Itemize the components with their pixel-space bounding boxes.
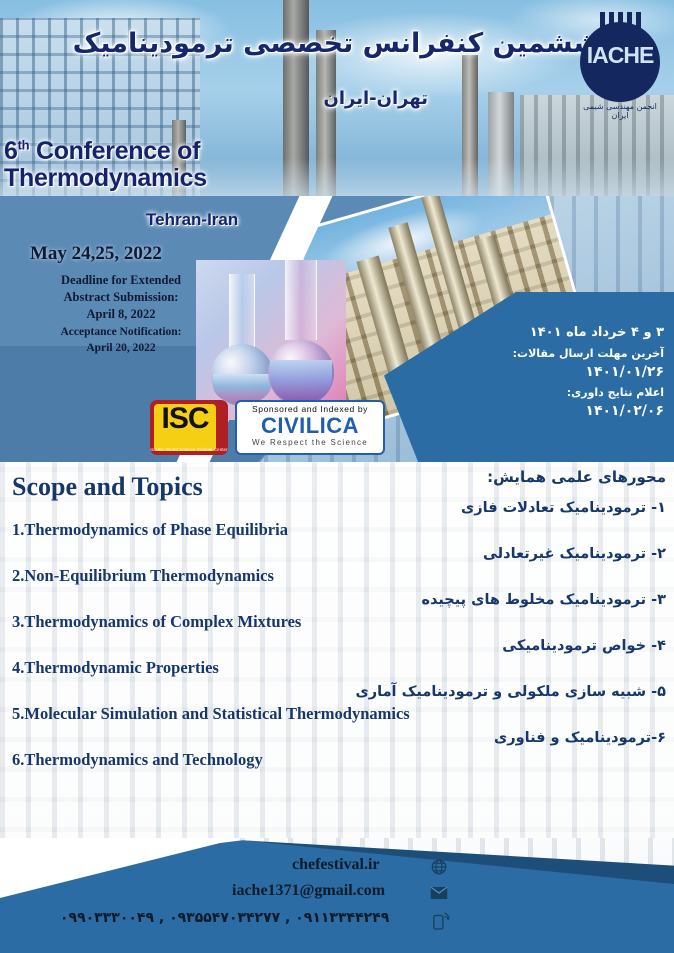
persian-topic-item: ۲- ترمودینامیک غیرتعادلی [246,546,666,562]
acceptance-date: April 20, 2022 [26,341,216,357]
persian-notify-value: ۱۴۰۱/۰۲/۰۶ [513,401,664,421]
persian-topic-item: ۶-ترمودینامیک و فناوری [246,730,666,746]
isc-logo-letters: ISC [154,402,216,436]
conference-poster: ششمین کنفرانس تخصصی ترمودینامیک تهران-ای… [0,0,674,953]
deadline-date: April 8, 2022 [26,306,216,323]
civilica-logo[interactable]: Sponsored and Indexed by CIVILICA We Res… [235,400,385,455]
persian-conference-title: ششمین کنفرانس تخصصی ترمودینامیک [73,28,600,59]
acceptance-label: Acceptance Notification: [26,325,216,341]
flask-neck [285,260,317,340]
logo-persian-caption: انجمن مهندسی شیمی ایران [574,102,666,120]
flask-right [268,260,334,406]
persian-notify-label: اعلام نتایج داوری: [513,385,664,401]
persian-topics-list: ۱- ترمودینامیک تعادلات فازی ۲- ترمودینام… [246,500,666,776]
isc-logo[interactable]: ISC Islamic World Science Citation Cente… [150,400,228,455]
persian-topic-item: ۳- ترمودینامیک مخلوط های پیچیده [246,592,666,608]
persian-location: تهران-ایران [323,88,428,109]
persian-deadline-value: ۱۴۰۱/۰۱/۲۶ [513,362,664,382]
deadline-label-line2: Abstract Submission: [26,289,216,306]
phone-numbers-text: ۰۹۱۱۳۳۴۴۲۴۹ , ۰۹۳۵۵۴۷۰۳۴۲۷۷ , ۰۹۹۰۳۳۳۰۰۴… [60,910,389,926]
english-conference-title: 6th Conference of Thermodynamics [4,138,304,192]
footer-contact-band: chefestival.ir iache1371@gmail.com ۰۹۱۱۳… [0,838,674,953]
globe-icon [430,858,448,876]
conference-ordinal-suffix: th [18,138,30,153]
envelope-icon [430,886,448,904]
persian-topic-item: ۵- شبیه سازی ملکولی و ترمودینامیک آماری [246,684,666,700]
deadline-label-line1: Deadline for Extended [26,272,216,289]
persian-date-block: ۳ و ۴ خرداد ماه ۱۴۰۱ آخرین مهلت ارسال مق… [513,324,664,421]
laboratory-flasks-photo [196,260,346,420]
conference-title-line1: Conference of [36,137,200,165]
isc-logo-caption: Islamic World Science Citation Center [150,447,228,452]
deadline-block: Deadline for Extended Abstract Submissio… [26,272,216,323]
persian-topic-item: ۱- ترمودینامیک تعادلات فازی [246,500,666,516]
persian-deadline-label: آخرین مهلت ارسال مقالات: [513,346,664,362]
english-location: Tehran-Iran [146,210,238,230]
conference-ordinal: 6 [4,137,18,165]
conference-title-line2: Thermodynamics [4,165,304,192]
mobile-phone-icon [432,910,450,928]
iache-logo: IACHE انجمن مهندسی شیمی ایران [574,6,666,118]
flask-left [210,274,274,406]
english-event-date: May 24,25, 2022 [30,243,162,265]
persian-event-date: ۳ و ۴ خرداد ماه ۱۴۰۱ [513,324,664,343]
topics-section: Scope and Topics 1.Thermodynamics of Pha… [0,462,674,862]
sponsor-logos: ISC Islamic World Science Citation Cente… [150,400,385,455]
persian-topic-item: ۴- خواص ترمودینامیکی [246,638,666,654]
scope-heading: Scope and Topics [12,472,203,502]
civilica-name: CIVILICA [241,414,379,438]
flask-neck [229,274,255,348]
email-text[interactable]: iache1371@gmail.com [232,882,385,900]
persian-topics-heading: محورهای علمی همایش: [487,468,666,486]
acceptance-block: Acceptance Notification: April 20, 2022 [26,325,216,356]
civilica-tagline: We Respect the Science [241,438,379,447]
logo-letters: IACHE [574,42,666,69]
website-text[interactable]: chefestival.ir [292,856,380,874]
